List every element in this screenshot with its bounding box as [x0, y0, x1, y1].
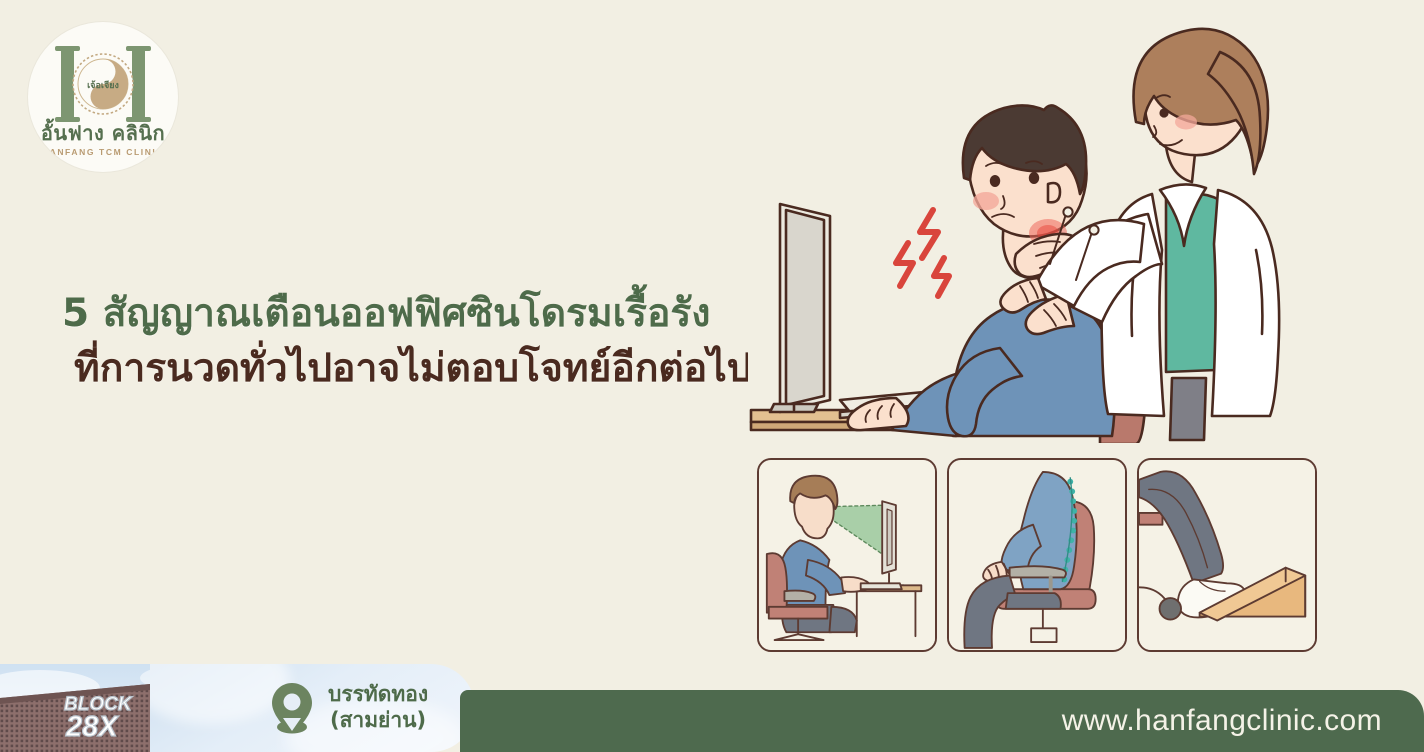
logo-mark: เจ้อเจียง: [47, 41, 159, 127]
panel-spine-lumbar-support[interactable]: [947, 458, 1127, 652]
cloud-decoration-left: [150, 664, 290, 724]
svg-text:28X: 28X: [65, 711, 119, 743]
headline-line-2: ที่การนวดทั่วไปอาจไม่ตอบโจทย์อีกต่อไป: [74, 341, 762, 396]
logo-english-name: HANFANG TCM CLINIC: [42, 147, 164, 157]
svg-text:เจ้อเจียง: เจ้อเจียง: [87, 80, 119, 91]
location-line-2: (สามย่าน): [328, 708, 428, 734]
poster-canvas: เจ้อเจียง อั้นฟาง คลินิก HANFANG TCM CLI…: [0, 0, 1424, 752]
location-pill[interactable]: บรรทัดทอง (สามย่าน): [150, 664, 475, 752]
map-pin-icon: [270, 682, 314, 734]
website-url[interactable]: www.hanfangclinic.com: [1062, 704, 1382, 738]
panel-footrest[interactable]: [1137, 458, 1317, 652]
headline-line-1: 5 สัญญาณเตือนออฟฟิศซินโดรมเรื้อรัง: [62, 286, 762, 341]
ergonomic-tips-panels: [757, 458, 1317, 652]
panel-screen-eye-level[interactable]: [757, 458, 937, 652]
location-line-1: บรรทัดทอง: [328, 682, 428, 708]
office-syndrome-treatment-illustration: .ol{fill:none;stroke:#4a2a20;stroke-widt…: [748, 18, 1313, 443]
footer-bar: www.hanfangclinic.com: [460, 690, 1424, 752]
location-text: บรรทัดทอง (สามย่าน): [328, 682, 428, 733]
headline-block: 5 สัญญาณเตือนออฟฟิศซินโดรมเรื้อรัง ที่กา…: [62, 286, 762, 397]
clinic-logo[interactable]: เจ้อเจียง อั้นฟาง คลินิก HANFANG TCM CLI…: [28, 22, 178, 172]
